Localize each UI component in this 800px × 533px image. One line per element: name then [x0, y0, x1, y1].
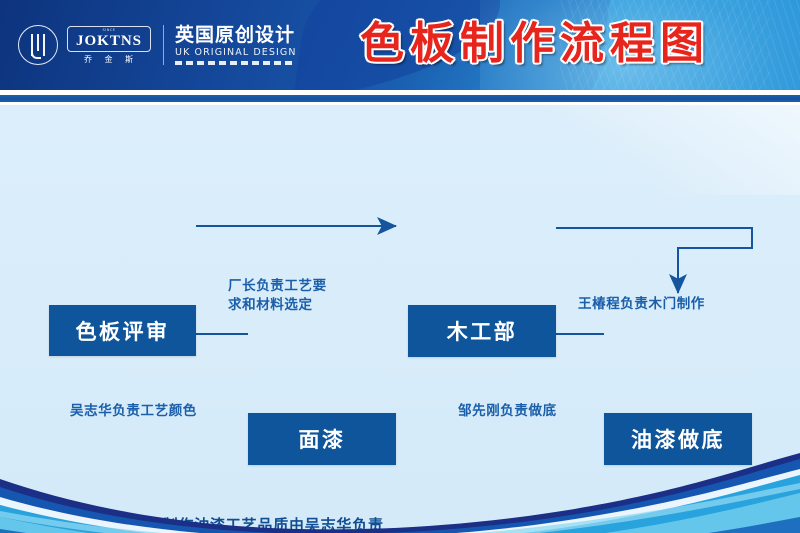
connector-carpentry-to-primer — [556, 228, 752, 293]
flowchart-area: 色板评审 木工部 油漆做底 面漆 厂长负责工艺要 求和材料选定 王椿程负责木门制… — [0, 105, 800, 533]
brand-latin-name: JOKTNS — [76, 33, 142, 49]
brand-slogan: 英国原创设计 UK ORIGINAL DESIGN — [175, 25, 297, 65]
poster-canvas: SINCE JOKTNS 乔 金 斯 英国原创设计 UK ORIGINAL DE… — [0, 0, 800, 533]
brand-badge: SINCE JOKTNS — [67, 26, 151, 52]
body-corner-highlight — [540, 105, 800, 195]
edge-label-review-to-carpentry: 厂长负责工艺要 求和材料选定 — [228, 277, 368, 315]
joktns-monogram-icon — [18, 25, 58, 65]
logo-divider — [163, 25, 164, 65]
flow-node-color-board-review[interactable]: 色板评审 — [49, 305, 196, 356]
header-banner: SINCE JOKTNS 乔 金 斯 英国原创设计 UK ORIGINAL DE… — [0, 0, 800, 90]
brand-chinese-name: 乔 金 斯 — [67, 54, 151, 65]
slogan-chinese: 英国原创设计 — [175, 25, 297, 46]
brand-logo: SINCE JOKTNS 乔 金 斯 英国原创设计 UK ORIGINAL DE… — [18, 20, 297, 70]
brand-wordmark: SINCE JOKTNS 乔 金 斯 — [67, 26, 151, 65]
bottom-wave-decoration — [0, 413, 800, 533]
slogan-dashes — [175, 61, 295, 65]
page-title: 色板制作流程图 — [300, 16, 770, 72]
slogan-english: UK ORIGINAL DESIGN — [175, 46, 297, 59]
edge-label-carpentry-to-primer: 王椿程负责木门制作 — [578, 295, 793, 314]
header-separator-blue — [0, 95, 800, 102]
flow-node-carpentry-department[interactable]: 木工部 — [408, 305, 556, 357]
